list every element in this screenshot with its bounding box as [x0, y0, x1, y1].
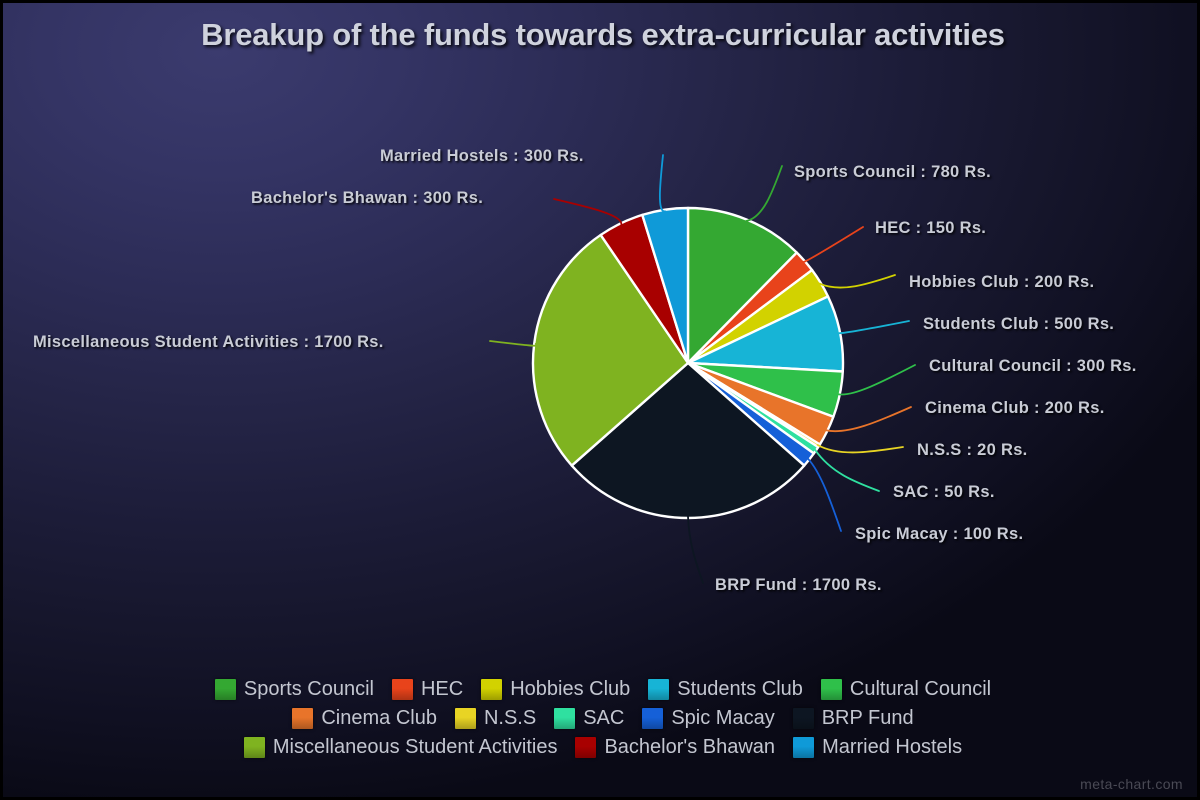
legend-item[interactable]: Cultural Council: [821, 678, 991, 701]
leader-line: [826, 407, 911, 431]
leader-line: [839, 321, 909, 333]
leader-line: [818, 445, 903, 452]
callout-label-hobbies-club: Hobbies Club : 200 Rs.: [909, 273, 1094, 292]
callout-label-sac: SAC : 50 Rs.: [893, 483, 995, 502]
legend-swatch-icon: [642, 708, 663, 729]
legend-item[interactable]: BRP Fund: [793, 707, 914, 730]
legend-label: SAC: [583, 707, 624, 730]
legend-swatch-icon: [554, 708, 575, 729]
legend-item[interactable]: SAC: [554, 707, 624, 730]
legend-label: HEC: [421, 678, 463, 701]
legend-label: Students Club: [677, 678, 803, 701]
legend-swatch-icon: [793, 708, 814, 729]
watermark: meta-chart.com: [1080, 776, 1183, 792]
leader-line: [804, 227, 863, 262]
legend-swatch-icon: [575, 737, 596, 758]
chart-legend: Sports CouncilHECHobbies ClubStudents Cl…: [3, 675, 1200, 762]
legend-item[interactable]: Students Club: [648, 678, 803, 701]
legend-label: BRP Fund: [822, 707, 914, 730]
legend-item[interactable]: Bachelor's Bhawan: [575, 736, 775, 759]
legend-item[interactable]: Spic Macay: [642, 707, 774, 730]
legend-label: Cinema Club: [321, 707, 437, 730]
callout-label-hec: HEC : 150 Rs.: [875, 219, 986, 238]
legend-row: Cinema ClubN.S.SSACSpic MacayBRP Fund: [3, 704, 1200, 733]
leader-line: [838, 365, 915, 395]
callout-label-cinema-club: Cinema Club : 200 Rs.: [925, 399, 1105, 418]
legend-swatch-icon: [648, 679, 669, 700]
legend-label: Miscellaneous Student Activities: [273, 736, 558, 759]
leader-line: [746, 166, 782, 221]
legend-label: Hobbies Club: [510, 678, 630, 701]
legend-label: Cultural Council: [850, 678, 991, 701]
legend-swatch-icon: [392, 679, 413, 700]
legend-label: Bachelor's Bhawan: [604, 736, 775, 759]
pie-slices: [533, 208, 843, 518]
legend-swatch-icon: [821, 679, 842, 700]
legend-label: Spic Macay: [671, 707, 774, 730]
leader-line: [688, 517, 703, 584]
callout-label-married-hostels: Married Hostels : 300 Rs.: [380, 147, 584, 166]
legend-label: N.S.S: [484, 707, 536, 730]
callout-label-bachelors-bhawan: Bachelor's Bhawan : 300 Rs.: [251, 189, 483, 208]
legend-label: Married Hostels: [822, 736, 962, 759]
legend-swatch-icon: [481, 679, 502, 700]
legend-swatch-icon: [215, 679, 236, 700]
legend-swatch-icon: [244, 737, 265, 758]
callout-label-spic-macay: Spic Macay : 100 Rs.: [855, 525, 1023, 544]
legend-item[interactable]: Married Hostels: [793, 736, 962, 759]
chart-root: Breakup of the funds towards extra-curri…: [0, 0, 1200, 800]
leader-line: [660, 155, 665, 211]
legend-swatch-icon: [292, 708, 313, 729]
callout-label-brp-fund: BRP Fund : 1700 Rs.: [715, 576, 882, 595]
legend-swatch-icon: [455, 708, 476, 729]
callout-label-cultural-council: Cultural Council : 300 Rs.: [929, 357, 1137, 376]
callout-label-nss: N.S.S : 20 Rs.: [917, 441, 1028, 460]
legend-swatch-icon: [793, 737, 814, 758]
legend-row: Miscellaneous Student ActivitiesBachelor…: [3, 733, 1200, 762]
legend-item[interactable]: Sports Council: [215, 678, 374, 701]
leader-line: [490, 341, 539, 346]
callout-label-miscellaneous: Miscellaneous Student Activities : 1700 …: [33, 333, 384, 352]
legend-item[interactable]: Cinema Club: [292, 707, 437, 730]
legend-item[interactable]: Miscellaneous Student Activities: [244, 736, 558, 759]
leader-line: [554, 199, 621, 225]
legend-item[interactable]: Hobbies Club: [481, 678, 630, 701]
legend-item[interactable]: N.S.S: [455, 707, 536, 730]
legend-label: Sports Council: [244, 678, 374, 701]
legend-row: Sports CouncilHECHobbies ClubStudents Cl…: [3, 675, 1200, 704]
callout-label-sports-council: Sports Council : 780 Rs.: [794, 163, 991, 182]
legend-item[interactable]: HEC: [392, 678, 463, 701]
callout-label-students-club: Students Club : 500 Rs.: [923, 315, 1114, 334]
leader-line: [819, 275, 895, 288]
